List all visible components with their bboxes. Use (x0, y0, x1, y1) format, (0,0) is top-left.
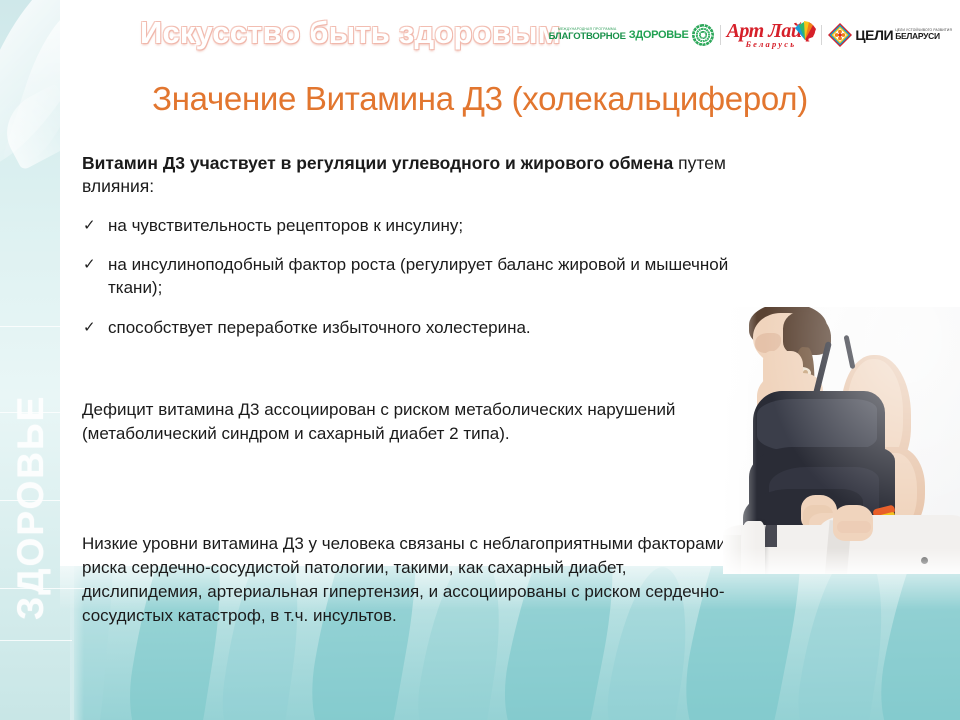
side-vertical-word: ЗДОРОВЬЕ (13, 200, 57, 620)
body-content: Витамин Д3 участвует в регуляции углевод… (82, 152, 762, 357)
overweight-woman-photo (723, 307, 960, 574)
header-strap-text: Искусство быть здоровым (140, 14, 610, 52)
page-title: Значение Витамина Д3 (холекальциферол) (0, 80, 960, 118)
list-item: ✓ на инсулиноподобный фактор роста (регу… (82, 254, 762, 300)
celi-second: БЕЛАРУСИ (895, 32, 952, 41)
check-icon: ✓ (83, 255, 96, 275)
check-icon: ✓ (83, 216, 96, 236)
mandala-icon (692, 24, 714, 46)
list-item: ✓ на чувствительность рецепторов к инсул… (82, 215, 762, 238)
celi-small: ЦЕЛИ УСТОЙЧИВОГО РАЗВИТИЯ (895, 29, 952, 33)
header-strap: Искусство быть здоровым (140, 14, 610, 52)
logo-divider (821, 25, 822, 45)
logo-strip: МЕЖДУНАРОДНАЯ ПРОГРАММА БЛАГОТВОРНОЕ ЗДО… (549, 18, 952, 52)
blagotvornoe-word: ЗДОРОВЬЕ (629, 29, 689, 41)
logo-divider (720, 25, 721, 45)
bullet-list: ✓ на чувствительность рецепторов к инсул… (82, 215, 762, 340)
check-icon: ✓ (83, 318, 96, 338)
deficit-paragraph: Дефицит витамина Д3 ассоциирован с риско… (82, 398, 782, 446)
celi-main: ЦЕЛИ (855, 27, 893, 43)
list-item-label: на чувствительность рецепторов к инсулин… (108, 216, 463, 235)
color-fan-icon (792, 20, 818, 40)
photo-illustration (723, 307, 960, 574)
blagotvornoe-zdorovie-logo: МЕЖДУНАРОДНАЯ ПРОГРАММА БЛАГОТВОРНОЕ ЗДО… (549, 24, 714, 46)
low-levels-paragraph: Низкие уровни витамина Д3 у человека свя… (82, 532, 742, 629)
list-item-label: способствует переработке избыточного хол… (108, 318, 531, 337)
list-item-label: на инсулиноподобный фактор роста (регули… (108, 255, 728, 297)
slide-canvas: Искусство быть здоровым МЕЖДУНАРОДНАЯ ПР… (0, 0, 960, 720)
lead-paragraph: Витамин Д3 участвует в регуляции углевод… (82, 152, 762, 199)
diamond-flower-icon (828, 23, 852, 47)
art-life-belarus-logo: Арт Лайф Беларусь (727, 22, 816, 49)
lead-bold-text: Витамин Д3 участвует в регуляции углевод… (82, 153, 673, 173)
celi-belarusi-logo: ЦЕЛИ ЦЕЛИ УСТОЙЧИВОГО РАЗВИТИЯ БЕЛАРУСИ (828, 23, 952, 47)
blagotvornoe-supertext: МЕЖДУНАРОДНАЯ ПРОГРАММА (549, 28, 626, 32)
list-item: ✓ способствует переработке избыточного х… (82, 317, 762, 340)
blagotvornoe-line1: БЛАГОТВОРНОЕ (549, 32, 626, 42)
